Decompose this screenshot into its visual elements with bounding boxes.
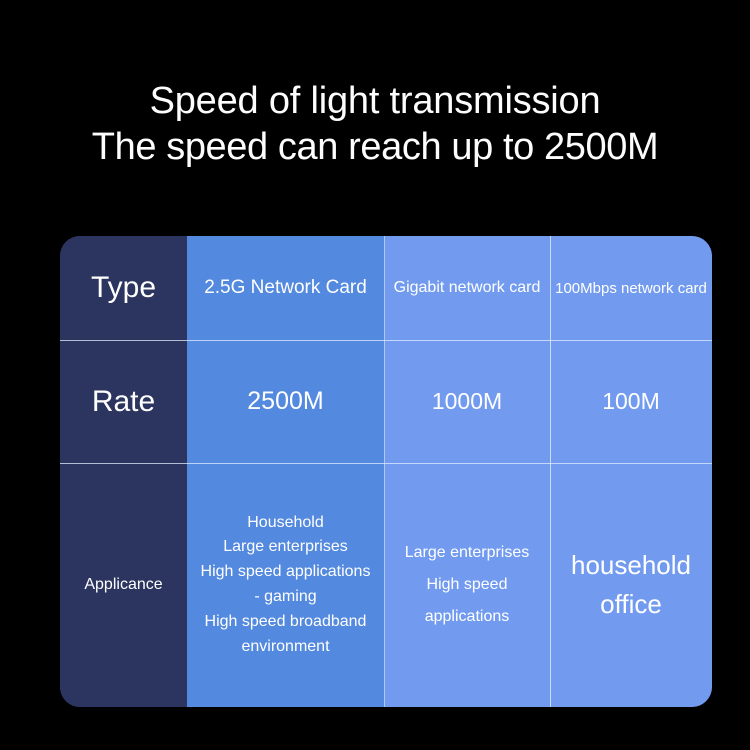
- cell-type-gigabit: Gigabit network card: [384, 236, 550, 340]
- cell-text: 2500M: [247, 387, 323, 416]
- cell-text: 1000M: [432, 388, 502, 415]
- row-header-label: Applicance: [84, 576, 162, 594]
- table-body: Type 2.5G Network Card Gigabit network c…: [60, 236, 712, 707]
- cell-text-line: - gaming: [254, 585, 316, 610]
- page-title: Speed of light transmission The speed ca…: [0, 78, 750, 170]
- cell-text-line: High speed: [427, 569, 508, 601]
- cell-rate-25g: 2500M: [187, 340, 384, 463]
- row-header-label: Type: [91, 271, 156, 305]
- cell-text-line: High speed applications: [201, 560, 371, 585]
- cell-text-block: Household Large enterprises High speed a…: [201, 511, 371, 660]
- cell-text-line: High speed broadband: [205, 610, 367, 635]
- cell-text-line: Household: [247, 511, 324, 536]
- table-row: Rate 2500M 1000M 100M: [60, 340, 712, 463]
- cell-text-block: Large enterprises High speed application…: [405, 537, 530, 633]
- cell-applicance-25g: Household Large enterprises High speed a…: [187, 463, 384, 707]
- comparison-table: Type 2.5G Network Card Gigabit network c…: [60, 236, 712, 707]
- row-header-rate: Rate: [60, 340, 187, 463]
- cell-applicance-100mbps: household office: [550, 463, 712, 707]
- cell-text-block: household office: [571, 546, 691, 624]
- cell-text-line: Large enterprises: [223, 535, 348, 560]
- cell-text: 2.5G Network Card: [204, 277, 367, 299]
- row-header-type: Type: [60, 236, 187, 340]
- title-line-2: The speed can reach up to 2500M: [0, 124, 750, 170]
- row-header-applicance: Applicance: [60, 463, 187, 707]
- cell-type-25g: 2.5G Network Card: [187, 236, 384, 340]
- cell-rate-gigabit: 1000M: [384, 340, 550, 463]
- title-line-1: Speed of light transmission: [0, 78, 750, 124]
- cell-applicance-gigabit: Large enterprises High speed application…: [384, 463, 550, 707]
- poster-root: Speed of light transmission The speed ca…: [0, 0, 750, 750]
- cell-text-line: Large enterprises: [405, 537, 530, 569]
- row-header-label: Rate: [92, 385, 155, 419]
- cell-text-line: environment: [241, 635, 329, 660]
- cell-text-line: household: [571, 546, 691, 585]
- cell-rate-100mbps: 100M: [550, 340, 712, 463]
- table-row: Type 2.5G Network Card Gigabit network c…: [60, 236, 712, 340]
- cell-text: 100M: [602, 388, 660, 415]
- cell-text-line: applications: [425, 601, 510, 633]
- cell-text: Gigabit network card: [394, 279, 541, 297]
- table-row: Applicance Household Large enterprises H…: [60, 463, 712, 707]
- cell-text-line: office: [600, 585, 662, 624]
- cell-text: 100Mbps network card: [555, 280, 707, 297]
- cell-type-100mbps: 100Mbps network card: [550, 236, 712, 340]
